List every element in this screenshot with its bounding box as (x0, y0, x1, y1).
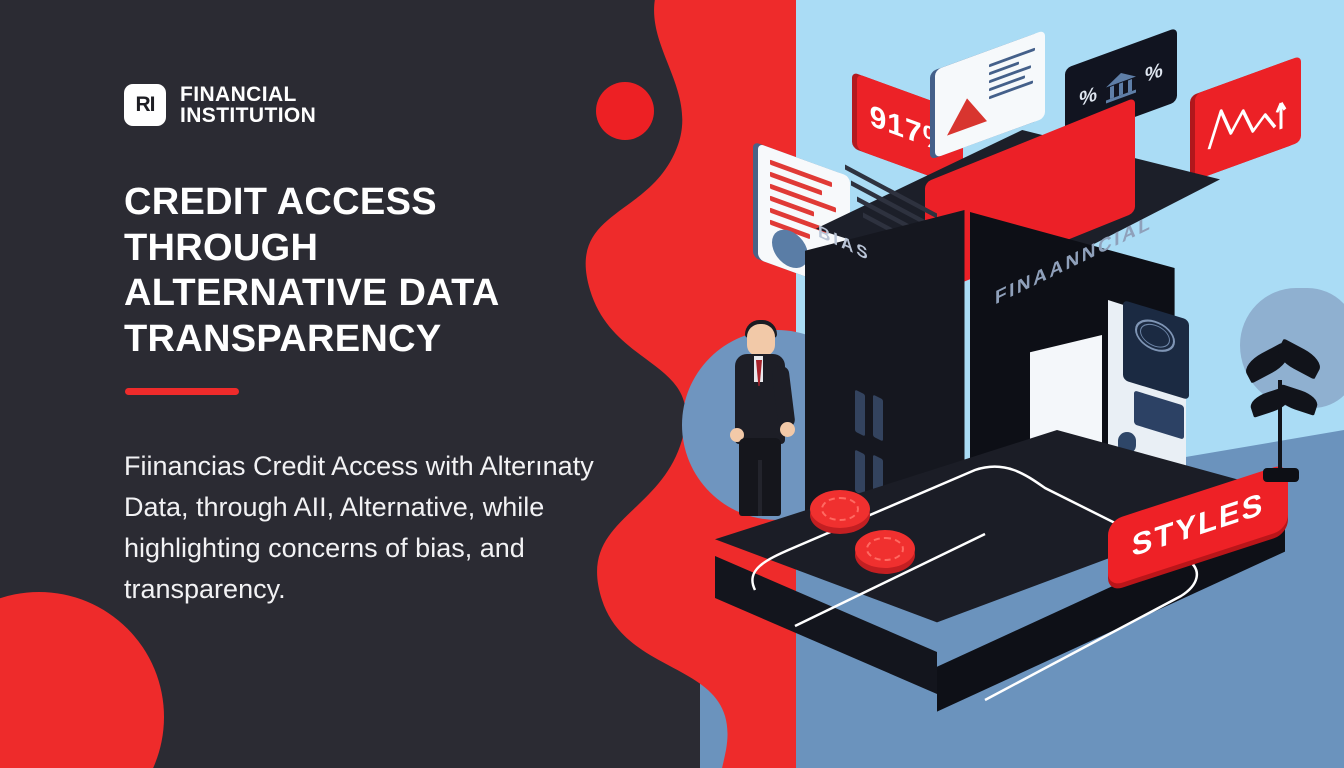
line-chart-card-icon (1195, 56, 1301, 181)
poker-chip (810, 490, 870, 528)
brand-line-1: FINANCIAL (180, 83, 297, 106)
page-title: CREDIT ACCESS THROUGH ALTERNATIVE DATA T… (124, 180, 544, 362)
percent-symbol-left: % (1079, 82, 1097, 111)
poker-chip (855, 530, 915, 568)
bank-icon (1106, 68, 1136, 103)
plant-decoration (1230, 300, 1340, 500)
brand-mark-icon: RI (124, 84, 166, 126)
brand-lockup: RI FINANCIAL INSTITUTION (124, 84, 316, 127)
poster-canvas: RI FINANCIAL INSTITUTION CREDIT ACCESS T… (0, 0, 1344, 768)
line-chart-svg (1195, 56, 1301, 181)
illustration-scene: 917% % % (640, 0, 1344, 768)
brand-name: FINANCIAL INSTITUTION (180, 84, 316, 127)
percent-symbol-right: % (1145, 58, 1163, 87)
businessman-figure (725, 310, 797, 515)
accent-divider-bar (125, 388, 239, 395)
body-paragraph: Fiinancias Credit Access with Alterınaty… (124, 446, 644, 610)
left-content-column: RI FINANCIAL INSTITUTION CREDIT ACCESS T… (124, 0, 644, 768)
brand-line-2: INSTITUTION (180, 105, 316, 126)
